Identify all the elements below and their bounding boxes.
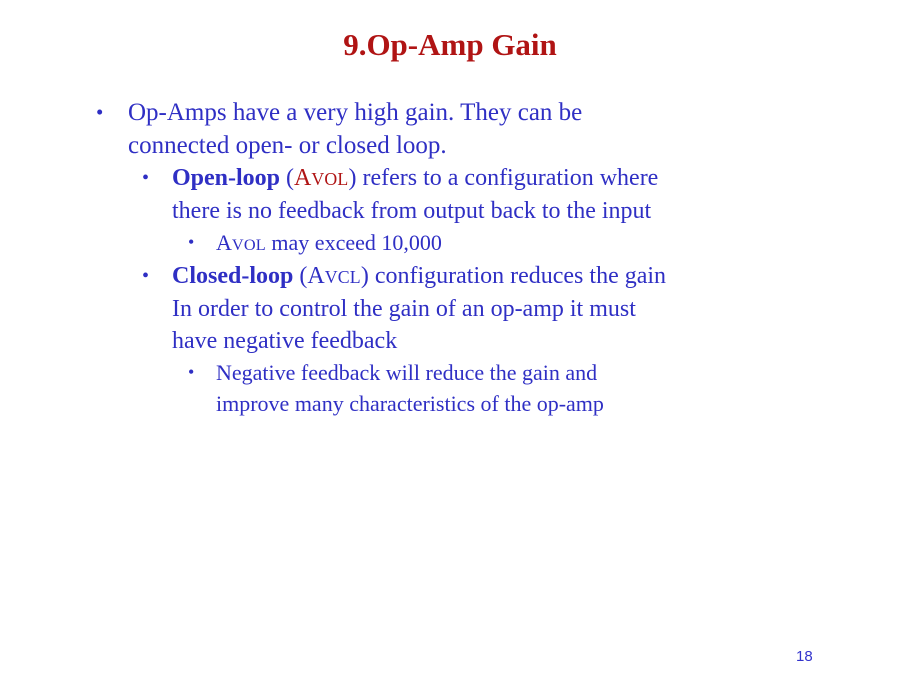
- bullet-level3-avol-text: AVOL may exceed 10,000: [216, 227, 836, 260]
- open-loop-rest: refers to a configuration where: [356, 165, 658, 191]
- bullet-level1-line2: connected open- or closed loop.: [128, 132, 447, 159]
- bullet-dot-icon: •: [188, 227, 216, 258]
- symbol-avcl-cap: A: [307, 263, 324, 289]
- symbol-avol: AVOL: [216, 230, 266, 255]
- symbol-avcl-sub: VCL: [325, 267, 361, 287]
- symbol-avol-cap: A: [216, 230, 232, 255]
- closed-loop-line2: In order to control the gain of an op-am…: [172, 296, 636, 322]
- bullet-level3-negative-feedback: • Negative feedback will reduce the gain…: [188, 357, 836, 419]
- bullet-level3-avol-exceed: • AVOL may exceed 10,000: [188, 227, 836, 260]
- bullet-level2-closed-loop-text: Closed-loop (AVCL) configuration reduces…: [172, 260, 836, 357]
- bullet-level2-open-loop: • Open-loop (AVOL) refers to a configura…: [142, 162, 836, 227]
- negative-feedback-line1: Negative feedback will reduce the gain a…: [216, 360, 597, 385]
- negative-feedback-line2: improve many characteristics of the op-a…: [216, 391, 604, 416]
- bullet-dot-icon: •: [142, 162, 172, 194]
- open-loop-line2: there is no feedback from output back to…: [172, 198, 651, 224]
- bullet-dot-icon: •: [188, 357, 216, 388]
- page-title: 9.Op-Amp Gain: [0, 26, 900, 64]
- open-loop-paren-open: (: [280, 165, 294, 191]
- symbol-avol: AVOL: [294, 165, 348, 191]
- bullet-level1-opamp-gain: • Op-Amps have a very high gain. They ca…: [96, 96, 836, 162]
- bullet-level2-closed-loop: • Closed-loop (AVCL) configuration reduc…: [142, 260, 836, 357]
- bullet-dot-icon: •: [142, 260, 172, 292]
- symbol-avol-sub: VOL: [311, 169, 348, 189]
- closed-loop-term: Closed-loop: [172, 263, 293, 289]
- symbol-avol-cap: A: [294, 165, 311, 191]
- bullet-level2-open-loop-text: Open-loop (AVOL) refers to a configurati…: [172, 162, 836, 227]
- slide-body: • Op-Amps have a very high gain. They ca…: [96, 96, 836, 419]
- closed-loop-rest: configuration reduces the gain: [369, 263, 666, 289]
- open-loop-term: Open-loop: [172, 165, 280, 191]
- closed-loop-paren-open: (: [293, 263, 307, 289]
- avol-exceed-rest: may exceed 10,000: [266, 230, 442, 255]
- page-number: 18: [796, 648, 836, 666]
- bullet-dot-icon: •: [96, 96, 128, 129]
- bullet-level1-line1: Op-Amps have a very high gain. They can …: [128, 99, 582, 126]
- bullet-level3-negative-feedback-text: Negative feedback will reduce the gain a…: [216, 357, 836, 419]
- symbol-avcl: AVCL: [307, 263, 360, 289]
- symbol-avol-sub: VOL: [232, 235, 266, 254]
- slide-canvas: 9.Op-Amp Gain • Op-Amps have a very high…: [0, 0, 900, 675]
- bullet-level1-text: Op-Amps have a very high gain. They can …: [128, 96, 836, 162]
- closed-loop-line3: have negative feedback: [172, 328, 397, 354]
- closed-loop-paren-close: ): [361, 263, 369, 289]
